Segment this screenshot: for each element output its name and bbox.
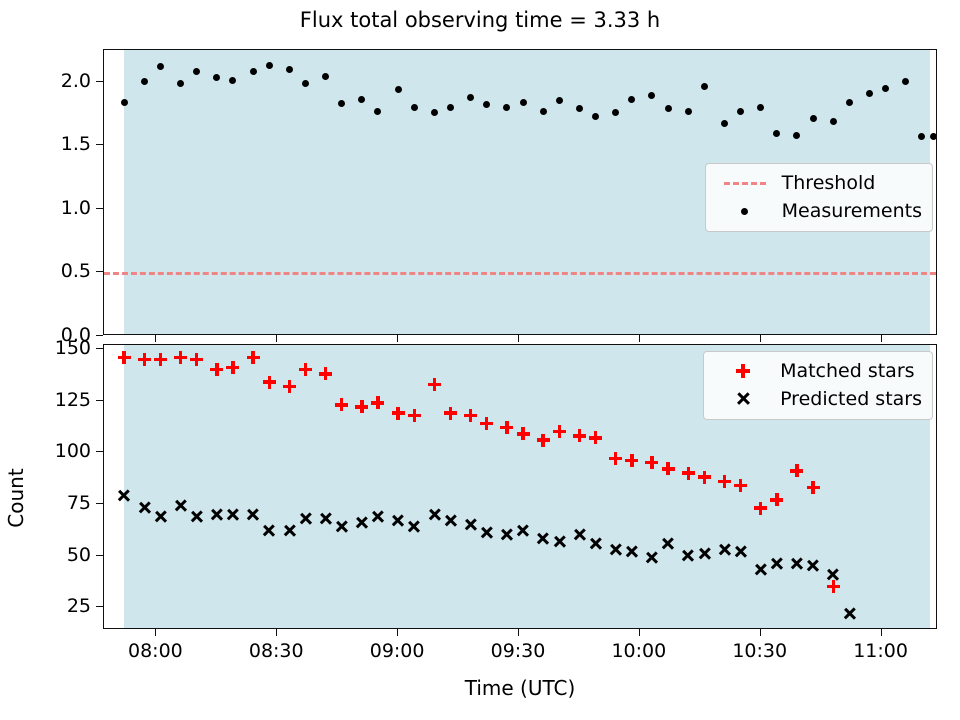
measurement-point bbox=[930, 133, 937, 140]
legend-item-matched-stars[interactable]: Matched stars bbox=[714, 357, 922, 385]
y-tick-label: 50 bbox=[7, 544, 91, 566]
y-tick-mark bbox=[96, 503, 103, 504]
x-tick-mark bbox=[760, 629, 761, 636]
measurement-point bbox=[612, 109, 619, 116]
dot-swatch-icon bbox=[716, 200, 774, 222]
y-tick-label: 1.5 bbox=[7, 133, 91, 155]
bottom-panel-legend[interactable]: Matched stars Predicted stars bbox=[703, 351, 933, 420]
x-tick-mark bbox=[639, 335, 640, 342]
measurement-point bbox=[737, 108, 744, 115]
y-tick-label: 125 bbox=[7, 389, 91, 411]
y-tick-label: 100 bbox=[7, 440, 91, 462]
y-tick-label: 25 bbox=[7, 595, 91, 617]
measurement-point bbox=[628, 96, 635, 103]
x-tick-label: 09:00 bbox=[370, 640, 425, 662]
measurement-point bbox=[213, 74, 220, 81]
measurement-point bbox=[121, 99, 128, 106]
measurement-point bbox=[592, 113, 599, 120]
measurement-point bbox=[846, 99, 853, 106]
measurement-point bbox=[193, 68, 200, 75]
legend-item-measurements[interactable]: Measurements bbox=[716, 197, 922, 225]
legend-label-threshold: Threshold bbox=[774, 172, 876, 194]
x-tick-mark bbox=[397, 629, 398, 636]
x-tick-mark bbox=[881, 629, 882, 636]
measurement-point bbox=[411, 104, 418, 111]
top-panel-legend[interactable]: Threshold Measurements bbox=[705, 163, 933, 232]
legend-item-predicted-stars[interactable]: Predicted stars bbox=[714, 385, 922, 413]
x-tick-mark bbox=[276, 629, 277, 636]
x-tick-label: 09:30 bbox=[491, 640, 546, 662]
y-tick-label: 150 bbox=[7, 337, 91, 359]
plus-swatch-icon bbox=[714, 360, 772, 382]
measurement-point bbox=[721, 120, 728, 127]
measurement-point bbox=[177, 80, 184, 87]
y-tick-mark bbox=[96, 271, 103, 272]
measurement-point bbox=[431, 109, 438, 116]
measurement-point bbox=[358, 96, 365, 103]
cross-swatch-icon bbox=[714, 388, 772, 410]
measurement-point bbox=[322, 73, 329, 80]
measurement-point bbox=[576, 105, 583, 112]
measurement-point bbox=[866, 90, 873, 97]
y-tick-mark bbox=[96, 81, 103, 82]
y-tick-mark bbox=[96, 451, 103, 452]
legend-label-measurements: Measurements bbox=[774, 200, 922, 222]
measurement-point bbox=[810, 115, 817, 122]
x-tick-mark bbox=[881, 335, 882, 342]
measurement-point bbox=[483, 101, 490, 108]
y-tick-mark bbox=[96, 335, 103, 336]
measurement-point bbox=[395, 86, 402, 93]
y-tick-mark bbox=[96, 555, 103, 556]
x-tick-mark bbox=[518, 629, 519, 636]
x-axis-label: Time (UTC) bbox=[103, 676, 937, 700]
measurement-point bbox=[773, 130, 780, 137]
measurement-point bbox=[882, 85, 889, 92]
x-tick-mark bbox=[397, 335, 398, 342]
y-tick-mark bbox=[96, 208, 103, 209]
bottom-panel-axes: Matched stars Predicted stars bbox=[103, 344, 937, 629]
measurement-point bbox=[701, 83, 708, 90]
measurement-point bbox=[447, 104, 454, 111]
measurement-point bbox=[503, 104, 510, 111]
y-tick-label: 2.0 bbox=[7, 70, 91, 92]
y-tick-mark bbox=[96, 400, 103, 401]
x-tick-label: 08:30 bbox=[249, 640, 304, 662]
x-tick-mark bbox=[518, 335, 519, 342]
dashed-line-swatch-icon bbox=[716, 172, 774, 194]
y-tick-mark bbox=[96, 606, 103, 607]
x-tick-label: 10:30 bbox=[732, 640, 787, 662]
measurement-point bbox=[141, 78, 148, 85]
figure-canvas: Flux total observing time = 3.33 h Thres… bbox=[0, 0, 960, 720]
measurement-point bbox=[793, 132, 800, 139]
measurement-point bbox=[374, 108, 381, 115]
measurement-point bbox=[830, 118, 837, 125]
measurement-point bbox=[540, 108, 547, 115]
y-tick-label: 1.0 bbox=[7, 197, 91, 219]
measurement-point bbox=[665, 105, 672, 112]
measurement-point bbox=[338, 100, 345, 107]
y-tick-mark bbox=[96, 348, 103, 349]
x-tick-label: 11:00 bbox=[853, 640, 908, 662]
x-tick-mark bbox=[155, 335, 156, 342]
legend-label-matched-stars: Matched stars bbox=[772, 360, 914, 382]
measurement-point bbox=[467, 94, 474, 101]
measurement-point bbox=[520, 99, 527, 106]
measurement-point bbox=[266, 62, 273, 69]
top-panel-axes: Threshold Measurements bbox=[103, 49, 937, 335]
x-tick-mark bbox=[155, 629, 156, 636]
x-tick-label: 08:00 bbox=[128, 640, 183, 662]
measurement-point bbox=[250, 68, 257, 75]
legend-label-predicted-stars: Predicted stars bbox=[772, 388, 922, 410]
measurement-point bbox=[918, 133, 925, 140]
y-tick-label: 0.5 bbox=[7, 260, 91, 282]
measurement-point bbox=[556, 97, 563, 104]
measurement-point bbox=[229, 77, 236, 84]
measurement-point bbox=[648, 92, 655, 99]
x-tick-mark bbox=[276, 335, 277, 342]
x-tick-mark bbox=[639, 629, 640, 636]
y-tick-label: 75 bbox=[7, 492, 91, 514]
measurement-point bbox=[157, 63, 164, 70]
x-tick-label: 10:00 bbox=[611, 640, 666, 662]
figure-title: Flux total observing time = 3.33 h bbox=[0, 8, 960, 32]
measurement-point bbox=[757, 104, 764, 111]
measurement-point bbox=[302, 80, 309, 87]
measurement-point bbox=[685, 108, 692, 115]
x-tick-mark bbox=[760, 335, 761, 342]
measurement-point bbox=[902, 78, 909, 85]
legend-item-threshold[interactable]: Threshold bbox=[716, 169, 922, 197]
measurement-point bbox=[286, 66, 293, 73]
y-tick-mark bbox=[96, 144, 103, 145]
